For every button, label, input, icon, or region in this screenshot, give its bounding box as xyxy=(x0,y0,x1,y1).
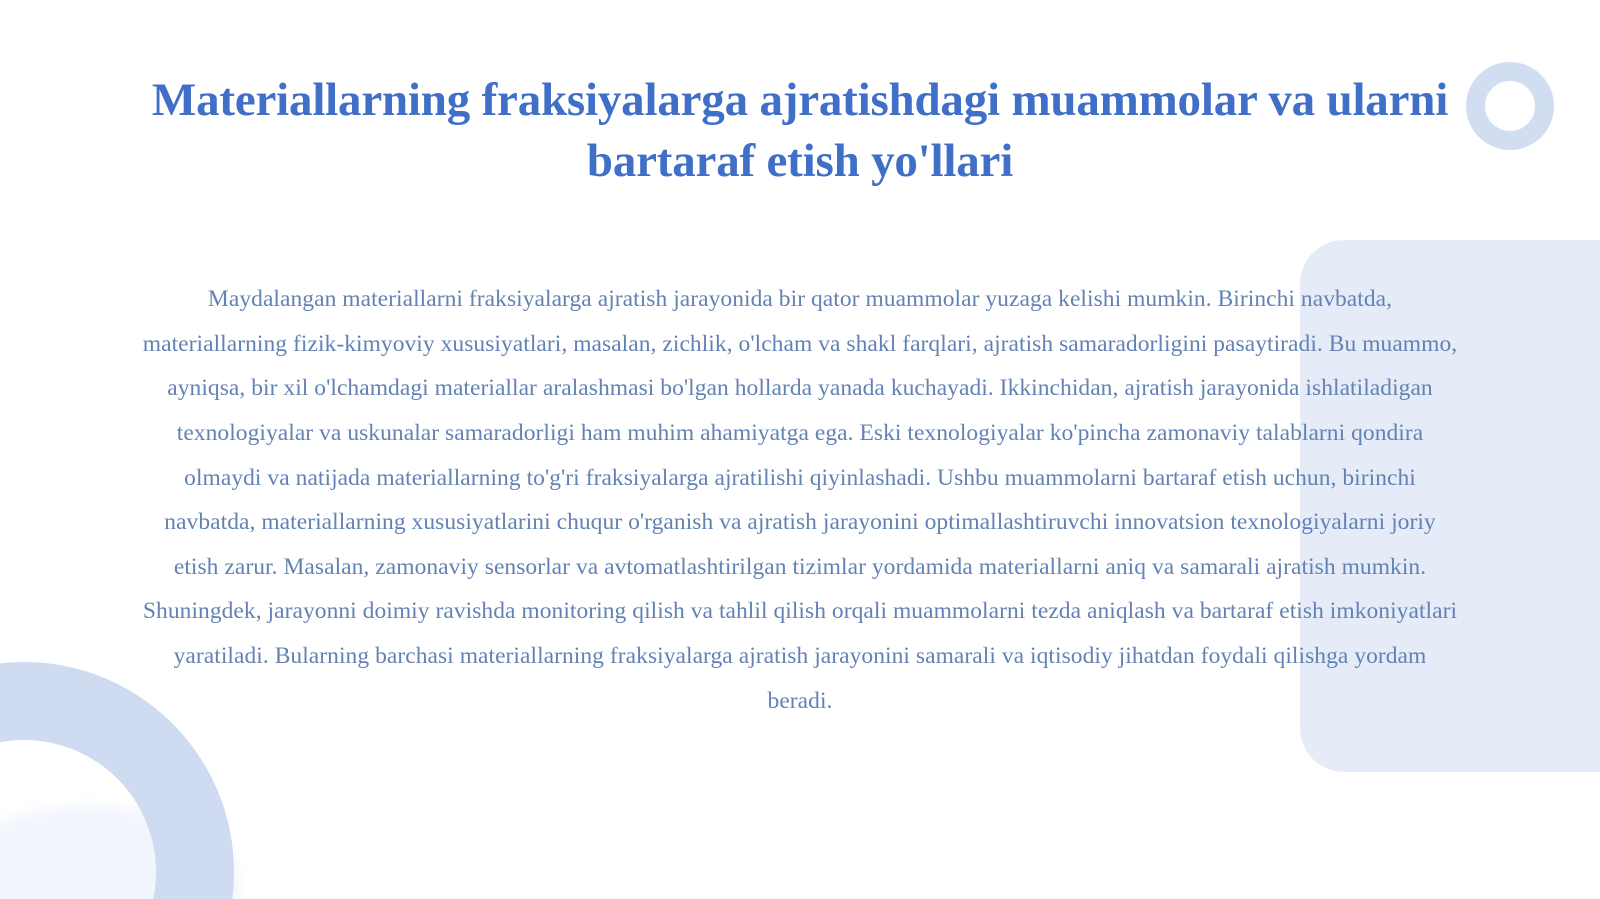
slide-content: Materiallarning fraksiyalarga ajratishda… xyxy=(0,0,1600,899)
slide-title: Materiallarning fraksiyalarga ajratishda… xyxy=(0,70,1600,192)
body-block: Maydalangan materiallarni fraksiyalarga … xyxy=(140,277,1460,723)
slide-canvas: Materiallarning fraksiyalarga ajratishda… xyxy=(0,0,1600,899)
slide-body-paragraph: Maydalangan materiallarni fraksiyalarga … xyxy=(140,277,1460,723)
title-block: Materiallarning fraksiyalarga ajratishda… xyxy=(0,70,1600,192)
